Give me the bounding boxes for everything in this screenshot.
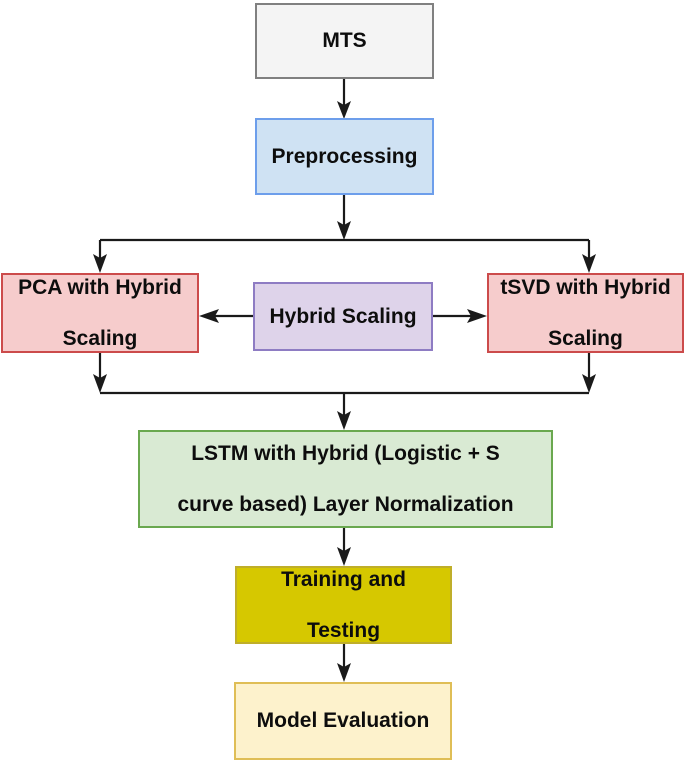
node-training-label-line2: Testing	[241, 618, 446, 644]
edge-lstm-to-training	[337, 528, 351, 566]
node-model-evaluation[interactable]: Model Evaluation	[234, 682, 452, 760]
flowchart-canvas: MTS Preprocessing PCA with HybridScaling…	[0, 0, 685, 763]
node-training-label-line1: Training and	[241, 567, 446, 593]
node-preprocessing-label: Preprocessing	[261, 144, 428, 170]
node-tsvd-label: tSVD with HybridScaling	[493, 275, 678, 352]
edge-pca-to-merge	[93, 353, 107, 393]
node-lstm-label-line1: LSTM with Hybrid (Logistic + S	[144, 441, 547, 467]
node-tsvd[interactable]: tSVD with HybridScaling	[487, 273, 684, 353]
node-pca[interactable]: PCA with HybridScaling	[1, 273, 199, 353]
edge-tsvd-to-merge	[582, 353, 596, 393]
flowchart-edges	[0, 0, 685, 763]
node-pca-label-line2: Scaling	[7, 326, 193, 352]
node-training-and-testing[interactable]: Training andTesting	[235, 566, 452, 644]
edge-hybrid-to-tsvd	[433, 309, 487, 323]
edge-mts-to-preprocessing	[337, 79, 351, 119]
edge-split-bar	[93, 240, 596, 273]
node-mts[interactable]: MTS	[255, 3, 434, 79]
node-pca-label: PCA with HybridScaling	[7, 275, 193, 352]
node-tsvd-label-line1: tSVD with Hybrid	[493, 275, 678, 301]
node-pca-label-line1: PCA with Hybrid	[7, 275, 193, 301]
node-training-and-testing-label: Training andTesting	[241, 567, 446, 644]
edge-preprocessing-to-split	[337, 195, 351, 240]
node-mts-label: MTS	[261, 28, 428, 54]
node-tsvd-label-line2: Scaling	[493, 326, 678, 352]
edge-merge-to-lstm	[100, 393, 589, 430]
node-hybrid-scaling[interactable]: Hybrid Scaling	[253, 282, 433, 351]
node-hybrid-scaling-label: Hybrid Scaling	[259, 304, 427, 330]
edge-hybrid-to-pca	[199, 309, 253, 323]
edge-training-to-evaluation	[337, 644, 351, 682]
node-lstm-label-line2: curve based) Layer Normalization	[144, 492, 547, 518]
node-lstm[interactable]: LSTM with Hybrid (Logistic + Scurve base…	[138, 430, 553, 528]
node-lstm-label: LSTM with Hybrid (Logistic + Scurve base…	[144, 441, 547, 518]
node-model-evaluation-label: Model Evaluation	[240, 708, 446, 734]
node-preprocessing[interactable]: Preprocessing	[255, 118, 434, 195]
